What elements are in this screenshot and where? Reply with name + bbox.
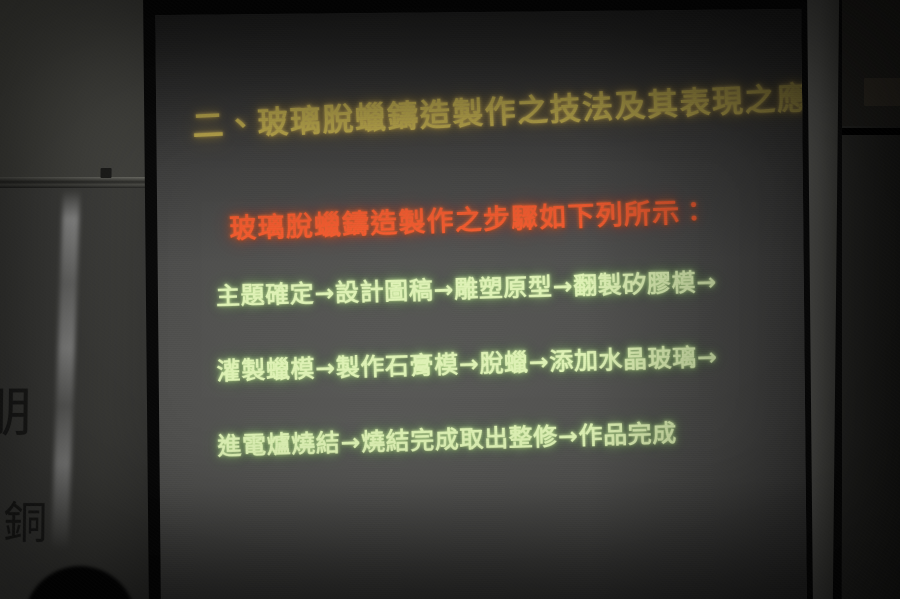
slide-title: 二、玻璃脫蠟鑄造製作之技法及其表現之應用 bbox=[192, 81, 807, 144]
whiteboard-rail bbox=[0, 177, 154, 188]
whiteboard-upper-panel bbox=[0, 0, 156, 184]
process-flow-line-3: 進電爐燒結→燒結完成取出整修→作品完成 bbox=[217, 416, 807, 461]
cabinet-label-plate bbox=[864, 78, 900, 106]
photo-frame: 朋 銅 二、玻璃脫蠟鑄造製作之技法及其表現之應用 玻璃脫蠟鑄造製作之步驟如下列所… bbox=[0, 0, 900, 599]
whiteboard-handwriting-2: 銅 bbox=[3, 502, 48, 546]
projection-screen-frame: 二、玻璃脫蠟鑄造製作之技法及其表現之應用 玻璃脫蠟鑄造製作之步驟如下列所示： 主… bbox=[143, 0, 813, 599]
slide-subtitle: 玻璃脫蠟鑄造製作之步驟如下列所示： bbox=[229, 194, 807, 245]
process-flow-line-1: 主題確定→設計圖稿→雕塑原型→翻製矽膠模→ bbox=[216, 266, 807, 311]
process-flow-line-2: 灌製蠟模→製作石膏模→脫蠟→添加水晶玻璃→ bbox=[216, 341, 807, 386]
whiteboard-glare bbox=[51, 190, 80, 550]
whiteboard: 朋 銅 bbox=[0, 0, 156, 599]
dark-cabinet bbox=[842, 0, 900, 126]
cabinet-seam bbox=[842, 128, 900, 135]
slide-content: 二、玻璃脫蠟鑄造製作之技法及其表現之應用 玻璃脫蠟鑄造製作之步驟如下列所示： 主… bbox=[155, 9, 807, 599]
projection-screen-surface: 二、玻璃脫蠟鑄造製作之技法及其表現之應用 玻璃脫蠟鑄造製作之步驟如下列所示： 主… bbox=[155, 9, 807, 599]
whiteboard-clip bbox=[100, 168, 111, 178]
whiteboard-handwriting-1: 朋 bbox=[0, 386, 35, 440]
